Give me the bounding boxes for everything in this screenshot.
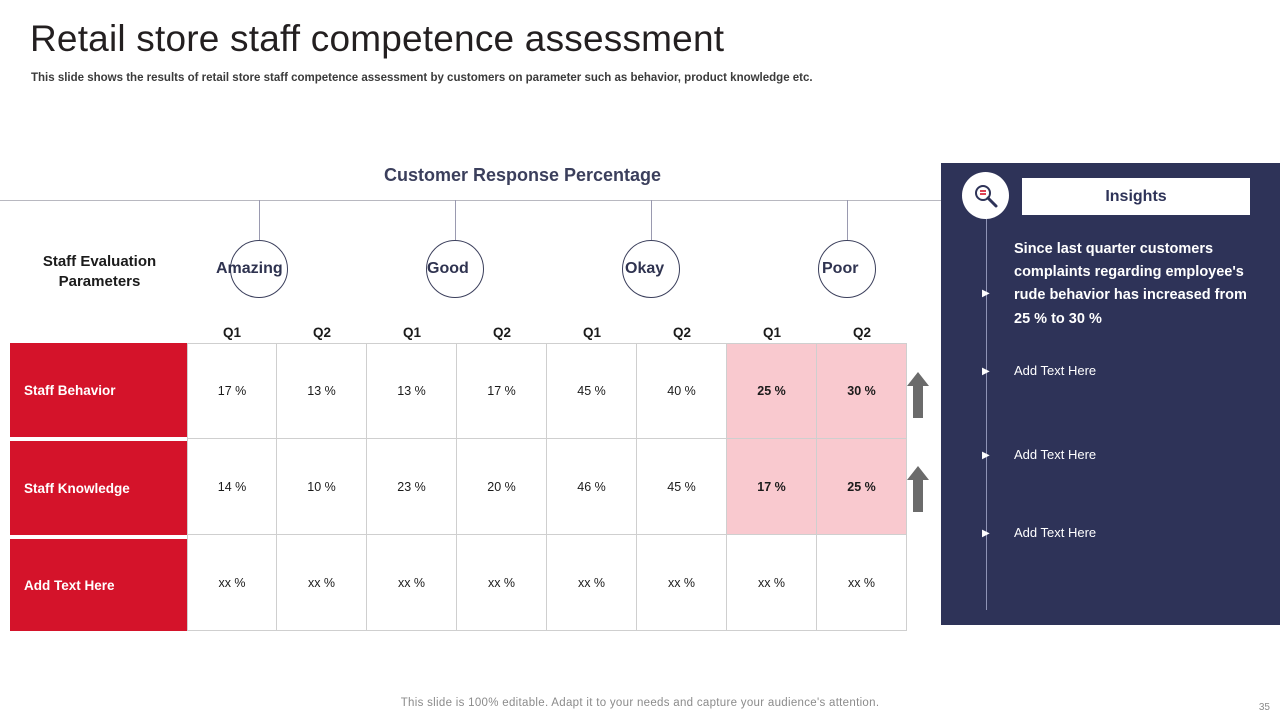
column-header-6: Q1 — [727, 325, 817, 340]
insights-panel — [941, 163, 1280, 625]
table-row-label-2: Add Text Here — [10, 539, 187, 631]
bubble-label-amazing: Amazing — [216, 260, 283, 278]
bullet-icon-2: ▶ — [982, 450, 990, 461]
table-cell-r0c5: 40 % — [637, 343, 727, 439]
bubble-stem-okay — [651, 200, 652, 240]
footer-note: This slide is 100% editable. Adapt it to… — [0, 697, 1280, 709]
table-cell-r1c5: 45 % — [637, 439, 727, 535]
column-header-3: Q2 — [457, 325, 547, 340]
insights-panel-divider — [986, 214, 987, 610]
table-cell-r2c1: xx % — [277, 535, 367, 631]
column-header-7: Q2 — [817, 325, 907, 340]
table-cell-r1c0: 14 % — [187, 439, 277, 535]
bullet-icon-3: ▶ — [982, 528, 990, 539]
insight-item-2: Add Text Here — [1014, 447, 1096, 462]
trend-up-arrow-row1 — [907, 466, 929, 512]
bubble-stem-amazing — [259, 200, 260, 240]
bullet-icon-0: ▶ — [982, 288, 990, 299]
magnifier-icon — [962, 172, 1009, 219]
table-cell-r2c5: xx % — [637, 535, 727, 631]
bullet-icon-1: ▶ — [982, 366, 990, 377]
bubble-stem-good — [455, 200, 456, 240]
table-cell-r1c2: 23 % — [367, 439, 457, 535]
row-header-title: Staff Evaluation Parameters — [12, 252, 187, 293]
column-header-4: Q1 — [547, 325, 637, 340]
bubble-label-okay: Okay — [625, 260, 664, 278]
page-title: Retail store staff competence assessment — [30, 18, 724, 60]
table-cell-r2c3: xx % — [457, 535, 547, 631]
column-header-0: Q1 — [187, 325, 277, 340]
table-cell-r1c7: 25 % — [817, 439, 907, 535]
table-cell-r0c3: 17 % — [457, 343, 547, 439]
table-cell-r1c6: 17 % — [727, 439, 817, 535]
page-number: 35 — [1259, 702, 1270, 713]
table-cell-r0c0: 17 % — [187, 343, 277, 439]
table-cell-r0c6: 25 % — [727, 343, 817, 439]
table-row-label-1: Staff Knowledge — [10, 441, 187, 537]
insight-item-3: Add Text Here — [1014, 525, 1096, 540]
insight-item-1: Add Text Here — [1014, 363, 1096, 378]
insight-main-text: Since last quarter customers complaints … — [1014, 238, 1254, 331]
trend-up-arrow-row0 — [907, 372, 929, 418]
table-cell-r2c0: xx % — [187, 535, 277, 631]
table-cell-r1c1: 10 % — [277, 439, 367, 535]
table-cell-r1c4: 46 % — [547, 439, 637, 535]
table-row-label-0: Staff Behavior — [10, 343, 187, 439]
bubble-label-poor: Poor — [822, 260, 858, 278]
column-header-2: Q1 — [367, 325, 457, 340]
table-cell-r0c1: 13 % — [277, 343, 367, 439]
table-cell-r2c6: xx % — [727, 535, 817, 631]
table-cell-r0c4: 45 % — [547, 343, 637, 439]
table-cell-r2c7: xx % — [817, 535, 907, 631]
column-header-1: Q2 — [277, 325, 367, 340]
table-cell-r1c3: 20 % — [457, 439, 547, 535]
column-header-5: Q2 — [637, 325, 727, 340]
table-cell-r2c4: xx % — [547, 535, 637, 631]
bubble-label-good: Good — [427, 260, 469, 278]
table-cell-r2c2: xx % — [367, 535, 457, 631]
page-subtitle: This slide shows the results of retail s… — [31, 72, 813, 84]
bubble-stem-poor — [847, 200, 848, 240]
table-cell-r0c2: 13 % — [367, 343, 457, 439]
table-cell-r0c7: 30 % — [817, 343, 907, 439]
chart-title: Customer Response Percentage — [0, 165, 1045, 186]
insights-heading: Insights — [1022, 178, 1250, 215]
